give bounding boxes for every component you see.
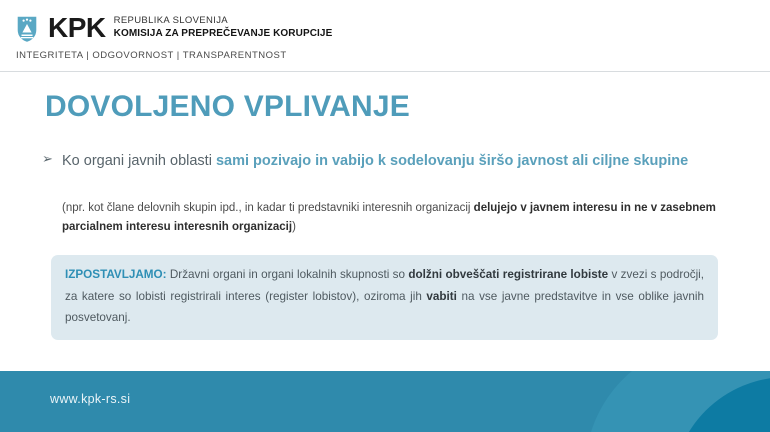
commission-name: KOMISIJA ZA PREPREČEVANJE KORUPCIJE xyxy=(114,27,333,40)
kpk-wordmark: KPK xyxy=(48,14,106,42)
note-part-1: (npr. kot člane delovnih skupin ipd., in… xyxy=(62,202,474,214)
logo-text-block: KPK REPUBLIKA SLOVENIJA KOMISIJA ZA PREP… xyxy=(48,13,332,42)
footer-website-url[interactable]: www.kpk-rs.si xyxy=(50,392,130,406)
callout-bold-2: vabiti xyxy=(426,290,457,303)
header-tagline: INTEGRITETA | ODGOVORNOST | TRANSPARENTN… xyxy=(16,50,287,61)
callout-text: IZPOSTAVLJAMO: Državni organi in organi … xyxy=(65,264,704,329)
note-part-2: ) xyxy=(292,221,296,233)
callout-box: IZPOSTAVLJAMO: Državni organi in organi … xyxy=(51,255,718,340)
callout-bold-1: dolžni obveščati registrirane lobiste xyxy=(408,268,608,281)
bullet-item: ➢ Ko organi javnih oblasti sami pozivajo… xyxy=(42,150,732,172)
callout-lead-label: IZPOSTAVLJAMO: xyxy=(65,268,167,281)
arrow-bullet-icon: ➢ xyxy=(42,151,53,167)
organisation-names: REPUBLIKA SLOVENIJA KOMISIJA ZA PREPREČE… xyxy=(114,13,333,40)
slide-header: KPK REPUBLIKA SLOVENIJA KOMISIJA ZA PREP… xyxy=(0,0,770,72)
slovenia-coat-of-arms-icon xyxy=(16,15,38,43)
header-divider xyxy=(0,71,770,72)
callout-part-1: Državni organi in organi lokalnih skupno… xyxy=(167,268,409,281)
slide-footer: www.kpk-rs.si xyxy=(0,371,770,432)
bullet-text-highlight: sami pozivajo in vabijo k sodelovanju ši… xyxy=(216,153,688,169)
page-title: DOVOLJENO VPLIVANJE xyxy=(45,90,410,124)
slide: KPK REPUBLIKA SLOVENIJA KOMISIJA ZA PREP… xyxy=(0,0,770,432)
bullet-text: Ko organi javnih oblasti sami pozivajo i… xyxy=(62,150,732,172)
note-paragraph: (npr. kot člane delovnih skupin ipd., in… xyxy=(62,199,717,237)
bullet-text-plain: Ko organi javnih oblasti xyxy=(62,153,216,169)
republic-name: REPUBLIKA SLOVENIJA xyxy=(114,15,333,27)
logo-lockup: KPK REPUBLIKA SLOVENIJA KOMISIJA ZA PREP… xyxy=(16,13,332,43)
